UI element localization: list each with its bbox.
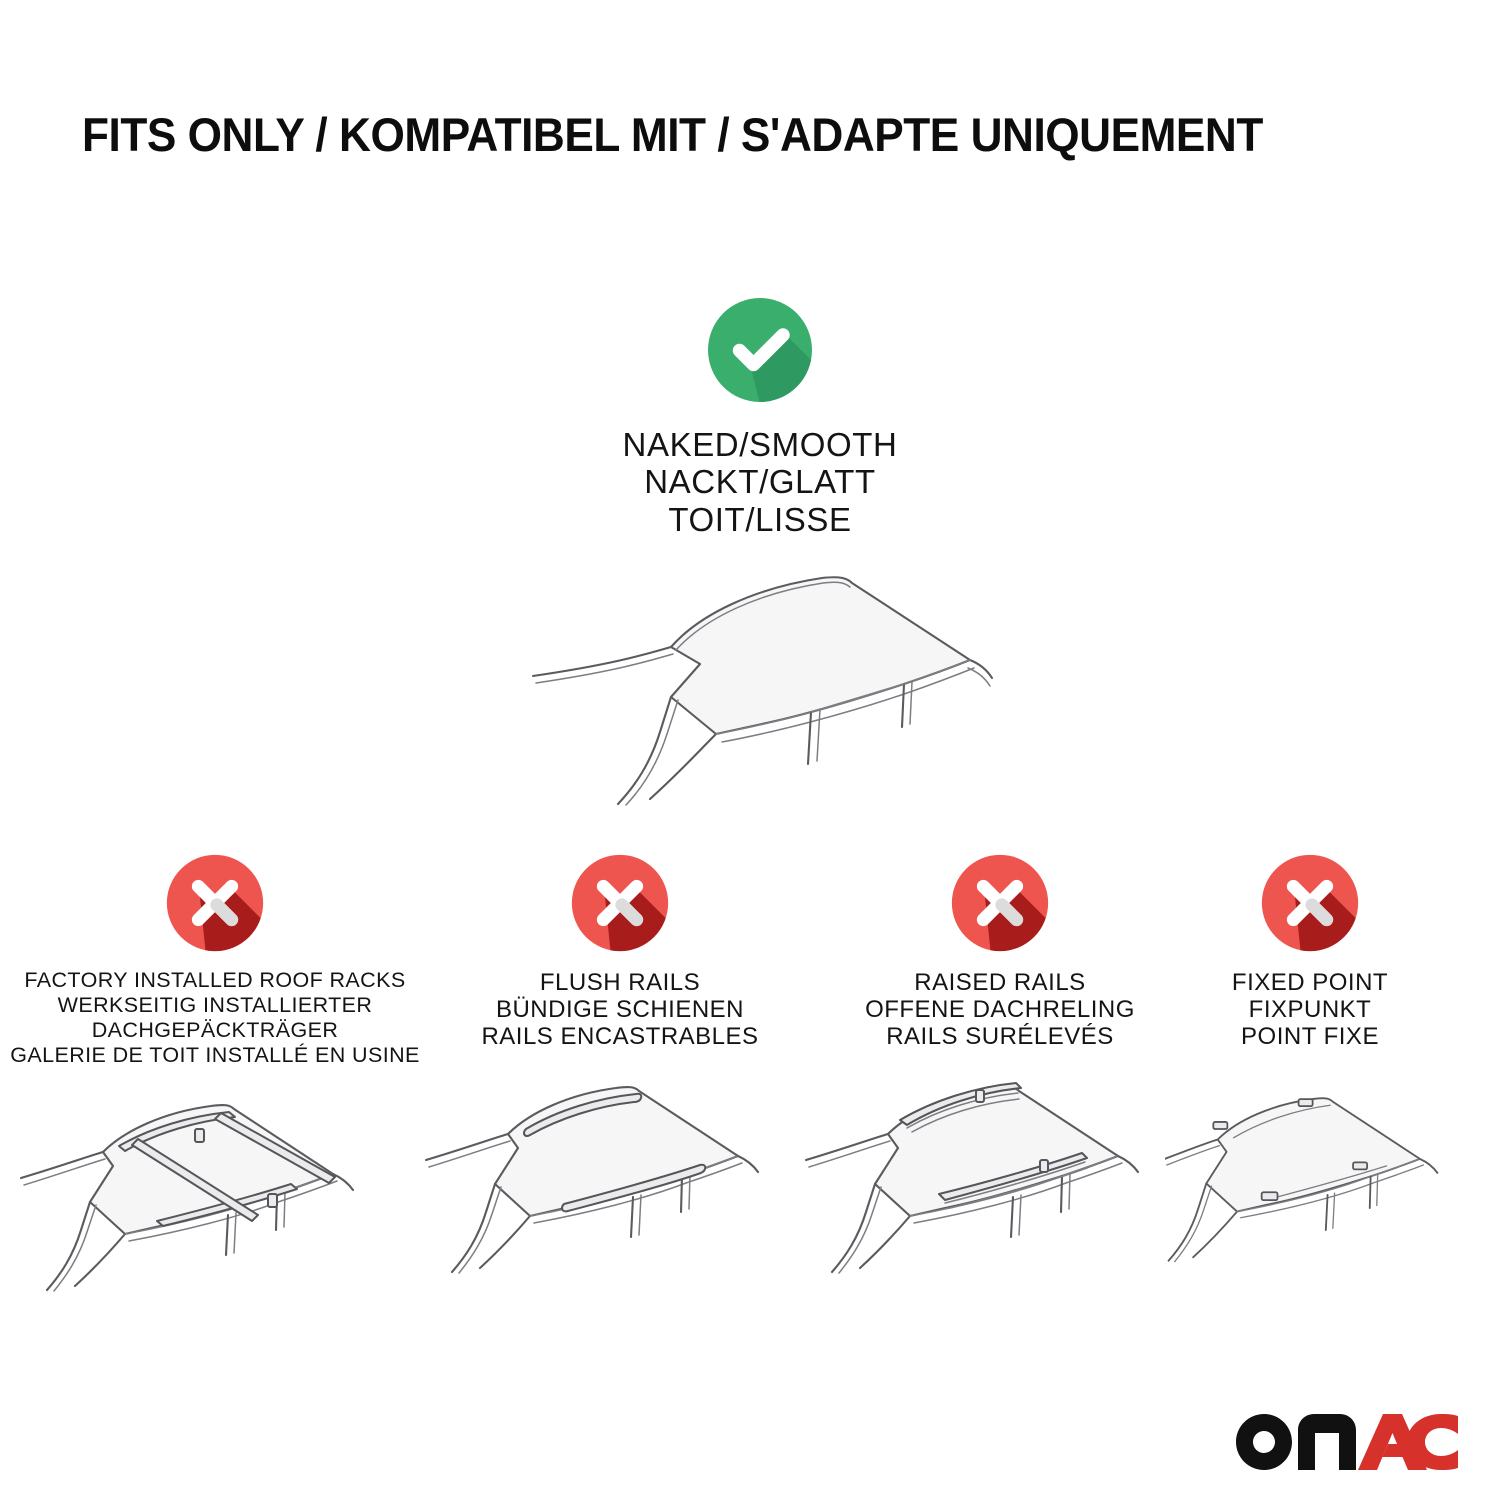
incompatible-label-de1-0: WERKSEITIG INSTALLIERTER	[10, 993, 420, 1018]
check-circle-icon	[706, 296, 814, 404]
logo-letter-m	[1298, 1414, 1356, 1470]
cross-icon-wrap	[10, 853, 420, 953]
incompatible-label-fr-2: RAILS SURÉLEVÉS	[800, 1023, 1200, 1050]
omac-logo-mark	[1236, 1414, 1458, 1470]
incompatible-label-de-2: OFFENE DACHRELING	[800, 996, 1200, 1023]
check-icon-wrap	[455, 296, 1065, 404]
compatible-labels: NAKED/SMOOTH NACKT/GLATT TOIT/LISSE	[455, 426, 1065, 538]
incompatible-labels-0: FACTORY INSTALLED ROOF RACKS WERKSEITIG …	[10, 968, 420, 1068]
incompatible-option-flush-rails: FLUSH RAILS BÜNDIGE SCHIENEN RAILS ENCAS…	[420, 853, 820, 1287]
cross-icon-wrap	[420, 853, 820, 953]
cross-icon-wrap	[1165, 853, 1455, 953]
incompatible-label-fr-1: RAILS ENCASTRABLES	[420, 1023, 820, 1050]
cross-icon-wrap	[800, 853, 1200, 953]
page-title: FITS ONLY / KOMPATIBEL MIT / S'ADAPTE UN…	[82, 110, 1342, 159]
cross-circle-icon	[165, 853, 265, 953]
incompatible-label-de2-0: DACHGEPÄCKTRÄGER	[10, 1018, 420, 1043]
naked-smooth-roof-illustration	[455, 564, 1065, 824]
factory-roof-rack-illustration	[10, 1090, 420, 1305]
roof-drawing-flush-rails	[420, 1072, 820, 1287]
incompatible-labels-2: RAISED RAILS OFFENE DACHRELING RAILS SUR…	[800, 969, 1200, 1050]
incompatible-option-raised-rails: RAISED RAILS OFFENE DACHRELING RAILS SUR…	[800, 853, 1200, 1287]
infographic-page: FITS ONLY / KOMPATIBEL MIT / S'ADAPTE UN…	[0, 0, 1500, 1500]
incompatible-label-en-2: RAISED RAILS	[800, 969, 1200, 996]
incompatible-label-de-3: FIXPUNKT	[1165, 996, 1455, 1023]
incompatible-label-fr-3: POINT FIXE	[1165, 1023, 1455, 1050]
incompatible-label-en-3: FIXED POINT	[1165, 969, 1455, 996]
roof-drawing-raised-rails	[800, 1072, 1200, 1287]
roof-drawing-naked	[500, 564, 1020, 824]
incompatible-label-en-1: FLUSH RAILS	[420, 969, 820, 996]
incompatible-option-fixed-point: FIXED POINT FIXPUNKT POINT FIXE	[1165, 853, 1455, 1287]
cross-circle-icon	[570, 853, 670, 953]
incompatible-label-en-0: FACTORY INSTALLED ROOF RACKS	[10, 968, 420, 993]
roof-drawing-fixed-point	[1165, 1072, 1455, 1287]
incompatible-label-fr-0: GALERIE DE TOIT INSTALLÉ EN USINE	[10, 1043, 420, 1068]
flush-rails-illustration	[420, 1072, 820, 1287]
incompatible-label-de-1: BÜNDIGE SCHIENEN	[420, 996, 820, 1023]
incompatible-option-factory-roof-racks: FACTORY INSTALLED ROOF RACKS WERKSEITIG …	[10, 853, 420, 1305]
fixed-point-illustration	[1165, 1072, 1455, 1287]
cross-circle-icon	[950, 853, 1050, 953]
raised-rails-illustration	[800, 1072, 1200, 1287]
compatible-label-fr: TOIT/LISSE	[455, 501, 1065, 538]
incompatible-labels-1: FLUSH RAILS BÜNDIGE SCHIENEN RAILS ENCAS…	[420, 969, 820, 1050]
cross-circle-icon	[1260, 853, 1360, 953]
roof-drawing-factory-racks	[15, 1090, 415, 1305]
compatible-option-naked-smooth: NAKED/SMOOTH NACKT/GLATT TOIT/LISSE	[455, 296, 1065, 824]
logo-letter-o	[1236, 1414, 1292, 1470]
compatible-label-en: NAKED/SMOOTH	[455, 426, 1065, 463]
incompatible-labels-3: FIXED POINT FIXPUNKT POINT FIXE	[1165, 969, 1455, 1050]
omac-logo	[1236, 1414, 1458, 1470]
compatible-label-de: NACKT/GLATT	[455, 463, 1065, 500]
